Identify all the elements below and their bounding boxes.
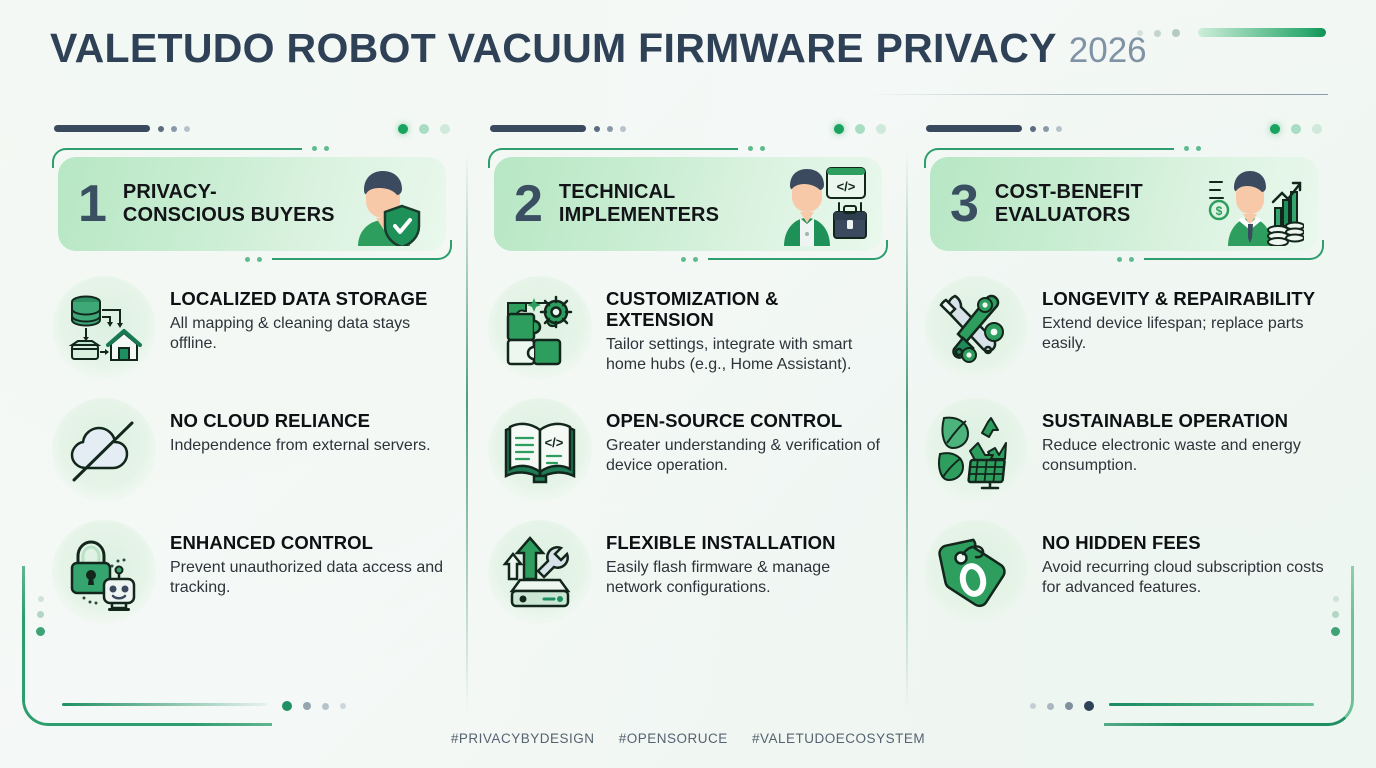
dot	[1047, 703, 1054, 710]
list-item-title: SUSTAINABLE OPERATION	[1042, 410, 1324, 431]
page-header: VALETUDO ROBOT VACUUM FIRMWARE PRIVACY20…	[50, 28, 1328, 112]
marker-green-dot-group	[834, 124, 886, 134]
dot	[1065, 702, 1073, 710]
card-bracket-bottom-dots	[681, 257, 698, 262]
device-arrows-wrench-icon	[488, 520, 592, 624]
dot	[1043, 126, 1049, 132]
dot	[760, 146, 765, 151]
list-item-body: NO CLOUD RELIANCE Independence from exte…	[170, 404, 431, 456]
list-item-title: CUSTOMIZATION & EXTENSION	[606, 288, 888, 330]
column-header-card-wrap: 3 COST-BENEFIT EVALUATORS $	[924, 148, 1324, 260]
column-header-card[interactable]: 3 COST-BENEFIT EVALUATORS $	[930, 157, 1318, 251]
dot	[607, 126, 613, 132]
column-number: 2	[514, 178, 543, 230]
list-item-title: ENHANCED CONTROL	[170, 532, 452, 553]
dot	[340, 703, 346, 709]
list-item-body: SUSTAINABLE OPERATION Reduce electronic …	[1042, 404, 1324, 477]
person-with-shield-icon	[336, 162, 432, 246]
marker-bar	[54, 125, 150, 132]
dot	[184, 126, 190, 132]
list-item-desc: All mapping & cleaning data stays offlin…	[170, 314, 452, 355]
title-underline	[870, 94, 1328, 95]
footer-line-right	[1109, 703, 1314, 706]
list-item-body: LOCALIZED DATA STORAGE All mapping & cle…	[170, 282, 452, 355]
dot	[1312, 124, 1322, 134]
list-item: LONGEVITY & REPAIRABILITY Extend device …	[924, 282, 1324, 380]
list-item-body: LONGEVITY & REPAIRABILITY Extend device …	[1042, 282, 1324, 355]
dot	[594, 126, 600, 132]
hashtag: #PRIVACYBYDESIGN	[451, 731, 595, 746]
list-item: FLEXIBLE INSTALLATION Easily flash firmw…	[488, 526, 888, 624]
list-item-desc: Tailor settings, integrate with smart ho…	[606, 335, 888, 376]
dot	[1030, 126, 1036, 132]
list-item: LOCALIZED DATA STORAGE All mapping & cle…	[52, 282, 452, 380]
footer-hashtags: #PRIVACYBYDESIGN #OPENSORUCE #VALETUDOEC…	[0, 731, 1376, 746]
marker-bar	[490, 125, 586, 132]
feature-list: CUSTOMIZATION & EXTENSION Tailor setting…	[488, 282, 888, 624]
side-dot-group-right	[1331, 596, 1340, 636]
dot	[245, 257, 250, 262]
side-dot-group-left	[36, 596, 45, 636]
businessman-with-chart-coins-icon: $	[1208, 162, 1304, 246]
header-accent-bar	[1198, 28, 1326, 37]
svg-text:</>: </>	[837, 179, 856, 194]
marker-dot-group	[594, 126, 626, 132]
list-item-desc: Independence from external servers.	[170, 436, 431, 456]
dot	[398, 124, 408, 134]
dot	[834, 124, 844, 134]
wrench-screwdriver-gears-icon	[924, 276, 1028, 380]
column-header-card-wrap: 1 PRIVACY-CONSCIOUS BUYERS	[52, 148, 452, 260]
feature-list: LOCALIZED DATA STORAGE All mapping & cle…	[52, 282, 452, 624]
dot	[419, 124, 429, 134]
dot	[257, 257, 262, 262]
list-item-desc: Reduce electronic waste and energy consu…	[1042, 436, 1324, 477]
list-item-title: LONGEVITY & REPAIRABILITY	[1042, 288, 1324, 309]
hashtag: #OPENSORUCE	[619, 731, 728, 746]
dot	[681, 257, 686, 262]
dot	[1270, 124, 1280, 134]
card-bracket-bottom-dots	[1117, 257, 1134, 262]
leaves-recycle-solar-icon	[924, 398, 1028, 502]
dot	[1172, 29, 1180, 37]
dot	[620, 126, 626, 132]
padlock-robot-icon	[52, 520, 156, 624]
card-bracket-bottom-dots	[245, 257, 262, 262]
open-book-code-icon: </>	[488, 398, 592, 502]
dot	[1129, 257, 1134, 262]
dot	[282, 701, 292, 711]
list-item-desc: Avoid recurring cloud subscription costs…	[1042, 558, 1324, 599]
list-item: NO HIDDEN FEES Avoid recurring cloud sub…	[924, 526, 1324, 624]
list-item: SUSTAINABLE OPERATION Reduce electronic …	[924, 404, 1324, 502]
column-privacy-conscious-buyers: 1 PRIVACY-CONSCIOUS BUYERS	[46, 120, 458, 702]
list-item: </> OPEN-SOURCE CONTROL Greater understa…	[488, 404, 888, 502]
column-header-card[interactable]: 2 TECHNICAL IMPLEMENTERS </>	[494, 157, 882, 251]
column-technical-implementers: 2 TECHNICAL IMPLEMENTERS </>	[482, 120, 894, 702]
technician-with-code-window-icon: </>	[772, 162, 868, 246]
card-bracket-top-dots	[748, 146, 765, 151]
price-tag-zero-icon	[924, 520, 1028, 624]
dot	[1196, 146, 1201, 151]
list-item: NO CLOUD RELIANCE Independence from exte…	[52, 404, 452, 502]
list-item-body: ENHANCED CONTROL Prevent unauthorized da…	[170, 526, 452, 599]
column-cost-benefit-evaluators: 3 COST-BENEFIT EVALUATORS $	[918, 120, 1330, 702]
dot	[1333, 596, 1339, 602]
dot	[36, 627, 45, 636]
dot	[324, 146, 329, 151]
list-item-desc: Extend device lifespan; replace parts ea…	[1042, 314, 1324, 355]
page-title-year: 2026	[1069, 33, 1147, 68]
list-item-desc: Greater understanding & verification of …	[606, 436, 888, 477]
dot	[1056, 126, 1062, 132]
column-header-card-wrap: 2 TECHNICAL IMPLEMENTERS </>	[488, 148, 888, 260]
footer-dot-group-left	[282, 701, 346, 711]
puzzle-gear-icon	[488, 276, 592, 380]
footer-dot-group-right	[1030, 701, 1094, 711]
marker-dot-group	[158, 126, 190, 132]
column-marker-row	[924, 120, 1324, 142]
infographic-page: VALETUDO ROBOT VACUUM FIRMWARE PRIVACY20…	[0, 0, 1376, 768]
marker-green-dot-group	[1270, 124, 1322, 134]
list-item-desc: Prevent unauthorized data access and tra…	[170, 558, 452, 599]
list-item-body: FLEXIBLE INSTALLATION Easily flash firmw…	[606, 526, 888, 599]
dot	[1154, 30, 1161, 37]
list-item-desc: Easily flash firmware & manage network c…	[606, 558, 888, 599]
column-number: 3	[950, 178, 979, 230]
dot	[1030, 703, 1036, 709]
columns-container: 1 PRIVACY-CONSCIOUS BUYERS	[46, 120, 1330, 702]
list-item: ENHANCED CONTROL Prevent unauthorized da…	[52, 526, 452, 624]
list-item-title: LOCALIZED DATA STORAGE	[170, 288, 452, 309]
svg-text:</>: </>	[545, 435, 564, 450]
database-to-home-icon	[52, 276, 156, 380]
dot	[1137, 30, 1143, 36]
cloud-crossed-out-icon	[52, 398, 156, 502]
dot	[1117, 257, 1122, 262]
dot	[1291, 124, 1301, 134]
footer-line-left	[62, 703, 267, 706]
column-marker-row	[52, 120, 452, 142]
column-number: 1	[78, 178, 107, 230]
list-item-title: NO HIDDEN FEES	[1042, 532, 1324, 553]
dot	[1184, 146, 1189, 151]
dot	[1331, 627, 1340, 636]
column-title: PRIVACY-CONSCIOUS BUYERS	[123, 181, 336, 227]
card-bracket-top-dots	[312, 146, 329, 151]
dot	[312, 146, 317, 151]
dot	[158, 126, 164, 132]
list-item-title: FLEXIBLE INSTALLATION	[606, 532, 888, 553]
dot	[38, 596, 44, 602]
marker-bar	[926, 125, 1022, 132]
dot	[303, 702, 311, 710]
dot	[171, 126, 177, 132]
column-marker-row	[488, 120, 888, 142]
card-bracket-top-dots	[1184, 146, 1201, 151]
column-title: COST-BENEFIT EVALUATORS	[995, 181, 1208, 227]
column-title: TECHNICAL IMPLEMENTERS	[559, 181, 772, 227]
dot	[1332, 611, 1339, 618]
dot	[37, 611, 44, 618]
list-item: CUSTOMIZATION & EXTENSION Tailor setting…	[488, 282, 888, 380]
dot	[440, 124, 450, 134]
column-header-card[interactable]: 1 PRIVACY-CONSCIOUS BUYERS	[58, 157, 446, 251]
dot	[876, 124, 886, 134]
list-item-body: CUSTOMIZATION & EXTENSION Tailor setting…	[606, 282, 888, 376]
marker-dot-group	[1030, 126, 1062, 132]
dot	[1084, 701, 1094, 711]
feature-list: LONGEVITY & REPAIRABILITY Extend device …	[924, 282, 1324, 624]
dot	[322, 703, 329, 710]
svg-text:$: $	[1216, 204, 1223, 218]
list-item-title: OPEN-SOURCE CONTROL	[606, 410, 888, 431]
hashtag: #VALETUDOECOSYSTEM	[752, 731, 925, 746]
header-dot-group	[1137, 29, 1180, 37]
dot	[855, 124, 865, 134]
list-item-title: NO CLOUD RELIANCE	[170, 410, 431, 431]
list-item-body: NO HIDDEN FEES Avoid recurring cloud sub…	[1042, 526, 1324, 599]
dot	[693, 257, 698, 262]
list-item-body: OPEN-SOURCE CONTROL Greater understandin…	[606, 404, 888, 477]
dot	[748, 146, 753, 151]
marker-green-dot-group	[398, 124, 450, 134]
page-title-main: VALETUDO ROBOT VACUUM FIRMWARE PRIVACY	[50, 28, 1057, 69]
